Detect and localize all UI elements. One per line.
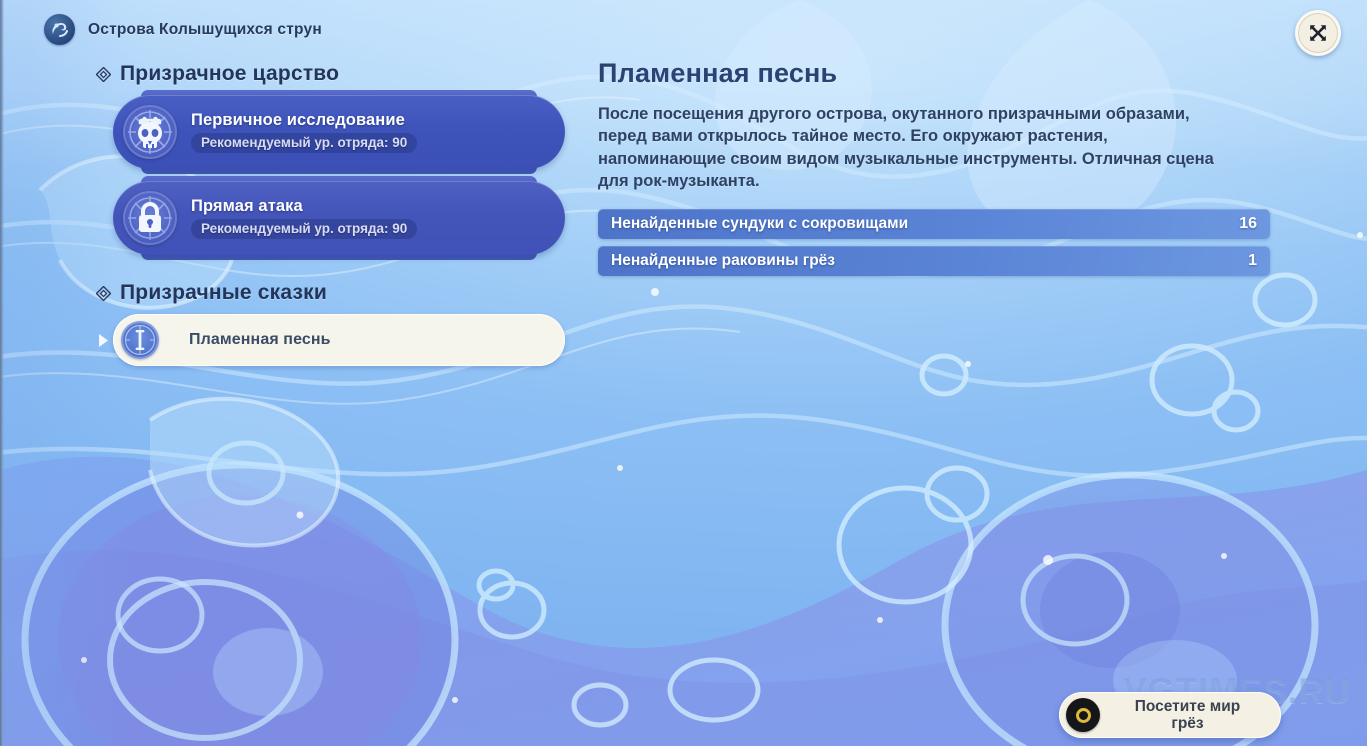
page-title: Острова Колышущихся струн [88,21,322,39]
quest-body: Прямая атака Рекомендуемый ур. отряда: 9… [191,197,417,239]
diamond-bullet-icon [96,286,111,301]
chapter-one-icon [121,321,159,359]
quest-title: Прямая атака [191,197,417,216]
section-header-ghost-tales: Призрачные сказки [96,281,576,305]
stat-value: 1 [1248,252,1257,270]
stat-label: Ненайденные раковины грёз [611,252,835,270]
cta-label-line2: грёз [1100,715,1275,732]
quest-title: Первичное исследование [191,111,417,130]
quest-list: Призрачное царство [96,62,576,366]
quest-level-badge: Рекомендуемый ур. отряда: 90 [191,133,417,153]
cta-label-line1: Посетите мир [1100,698,1275,715]
quest-body: Первичное исследование Рекомендуемый ур.… [191,111,417,153]
story-item-flaming-song[interactable]: Пламенная песнь [113,314,565,366]
section-title: Призрачное царство [120,62,339,86]
quest-card-direct-assault[interactable]: Прямая атака Рекомендуемый ур. отряда: 9… [113,181,565,255]
visit-dream-world-button[interactable]: Посетите мир грёз [1059,692,1281,738]
island-swirl-icon [44,14,75,45]
close-button[interactable] [1295,10,1341,56]
story-title: Пламенная песнь [189,331,331,349]
detail-title: Пламенная песнь [598,58,1270,89]
story-row: Пламенная песнь [98,314,576,366]
section-header-ghost-realm: Призрачное царство [96,62,576,86]
stat-row-dream-conches: Ненайденные раковины грёз 1 [598,246,1270,276]
stat-label: Ненайденные сундуки с сокровищами [611,215,908,233]
diamond-bullet-icon [96,67,111,82]
section-title: Призрачные сказки [120,281,327,305]
detail-description: После посещения другого острова, окутанн… [598,103,1218,193]
lock-icon [123,191,177,245]
header: Острова Колышущихся струн [44,14,322,45]
detail-panel: Пламенная песнь После посещения другого … [598,58,1270,283]
stat-value: 16 [1239,215,1257,233]
left-edge-strip [0,0,4,746]
skull-domain-icon [123,105,177,159]
gamepad-key-icon [1066,698,1100,732]
selected-arrow-icon [98,333,109,348]
quest-level-badge: Рекомендуемый ур. отряда: 90 [191,219,417,239]
stat-row-treasure-chests: Ненайденные сундуки с сокровищами 16 [598,209,1270,239]
quest-card-primary-investigation[interactable]: Первичное исследование Рекомендуемый ур.… [113,95,565,169]
cta-label: Посетите мир грёз [1100,698,1281,733]
close-x-icon [1307,22,1329,44]
